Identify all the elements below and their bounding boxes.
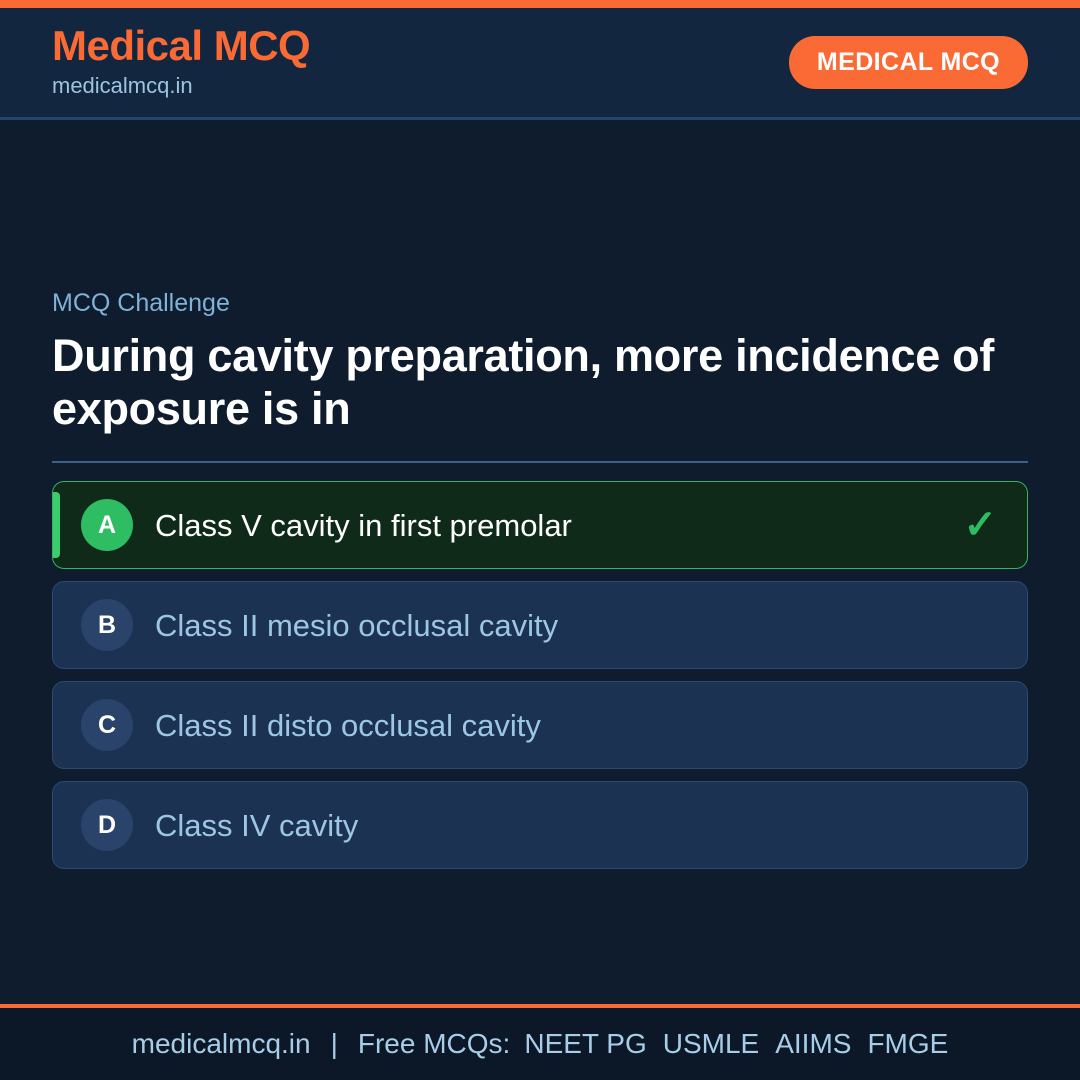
correct-accent-bar [53,492,60,558]
footer-tag-aiims[interactable]: AIIMS [775,1030,851,1058]
footer-tag-fmge[interactable]: FMGE [867,1030,948,1058]
footer-separator: | [325,1030,344,1058]
option-a-text: Class V cavity in first premolar [155,507,572,544]
footer-tag-usmle[interactable]: USMLE [663,1030,759,1058]
footer: medicalmcq.in | Free MCQs: NEET PG USMLE… [0,1008,1080,1080]
brand-block: Medical MCQ medicalmcq.in [52,24,310,102]
top-accent-strip [0,0,1080,8]
option-d-text: Class IV cavity [155,807,358,844]
option-c-letter: C [81,699,133,751]
mcq-card: Medical MCQ medicalmcq.in MEDICAL MCQ MC… [0,0,1080,1080]
footer-prefix: Free MCQs: [358,1030,510,1058]
main-content: MCQ Challenge During cavity preparation,… [0,120,1080,1004]
footer-inner: medicalmcq.in | Free MCQs: NEET PG USMLE… [132,1030,949,1058]
option-b-text: Class II mesio occlusal cavity [155,607,558,644]
header: Medical MCQ medicalmcq.in MEDICAL MCQ [0,8,1080,120]
footer-tags: NEET PG USMLE AIIMS FMGE [524,1030,948,1058]
option-c-text: Class II disto occlusal cavity [155,707,541,744]
option-d[interactable]: D Class IV cavity [52,781,1028,869]
check-icon: ✓ [963,505,997,545]
question-text: During cavity preparation, more incidenc… [52,330,1012,435]
option-a[interactable]: A Class V cavity in first premolar ✓ [52,481,1028,569]
option-b[interactable]: B Class II mesio occlusal cavity [52,581,1028,669]
question-block: MCQ Challenge During cavity preparation,… [52,288,1028,435]
footer-tag-neet-pg[interactable]: NEET PG [524,1030,646,1058]
option-a-letter: A [81,499,133,551]
question-kicker: MCQ Challenge [52,288,1028,318]
footer-site[interactable]: medicalmcq.in [132,1030,311,1058]
options-list: A Class V cavity in first premolar ✓ B C… [52,481,1028,869]
brand-domain: medicalmcq.in [52,70,310,102]
question-divider [52,461,1028,463]
option-c[interactable]: C Class II disto occlusal cavity [52,681,1028,769]
header-badge[interactable]: MEDICAL MCQ [789,36,1028,89]
option-b-letter: B [81,599,133,651]
brand-title: Medical MCQ [52,24,310,68]
option-d-letter: D [81,799,133,851]
